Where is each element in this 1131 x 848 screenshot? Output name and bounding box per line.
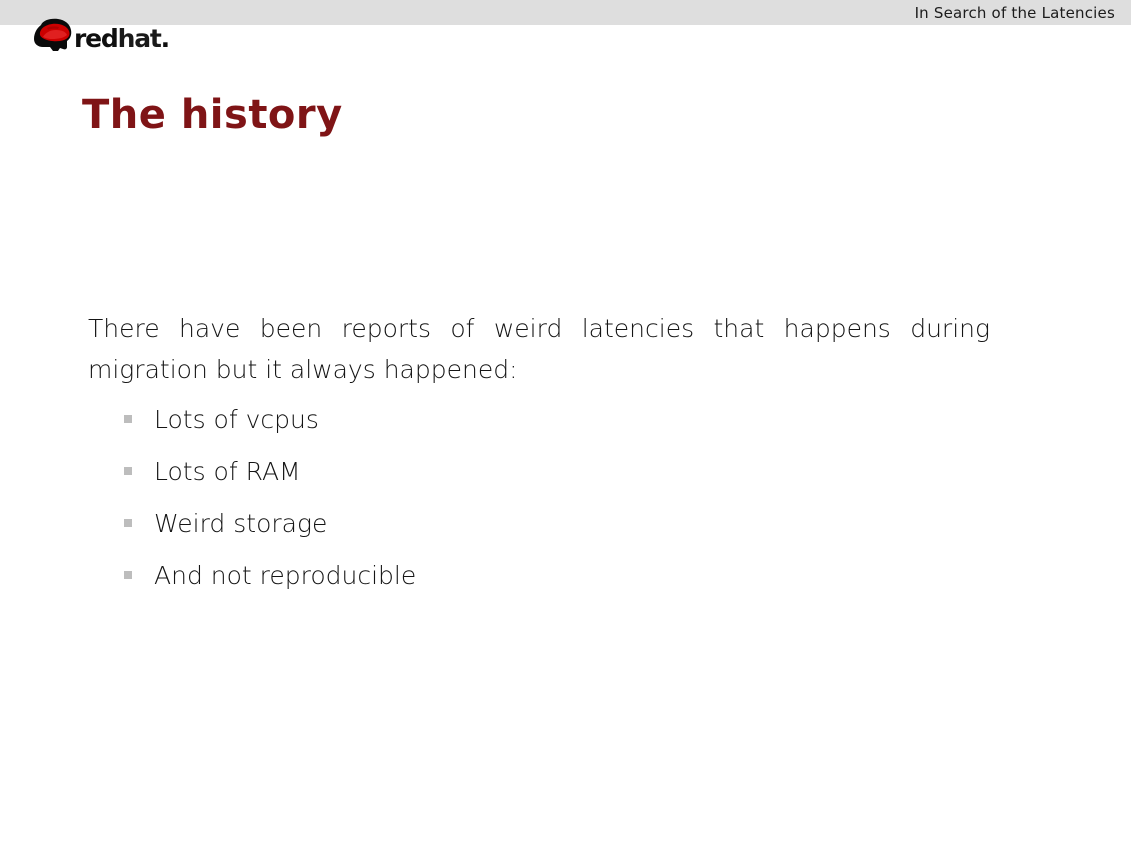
lead-paragraph: There have been reports of weird latenci… xyxy=(88,308,990,390)
bullet-list: Lots of vcpus Lots of RAM Weird storage … xyxy=(88,404,990,612)
list-item-label: Lots of RAM xyxy=(154,456,301,488)
slide-content: There have been reports of weird latenci… xyxy=(88,308,990,612)
square-bullet-icon xyxy=(124,519,132,527)
wordmark-hat: hat xyxy=(118,24,161,53)
redhat-shadowman-icon xyxy=(31,18,77,52)
list-item: And not reproducible xyxy=(124,560,990,612)
list-item: Lots of vcpus xyxy=(124,404,990,456)
wordmark-red: red xyxy=(74,24,118,53)
slide-title: The history xyxy=(82,92,343,138)
square-bullet-icon xyxy=(124,415,132,423)
list-item: Weird storage xyxy=(124,508,990,560)
list-item-label: Lots of vcpus xyxy=(154,404,319,436)
square-bullet-icon xyxy=(124,467,132,475)
square-bullet-icon xyxy=(124,571,132,579)
wordmark-dot: . xyxy=(161,24,169,53)
redhat-wordmark: redhat. xyxy=(74,26,169,51)
list-item-label: And not reproducible xyxy=(154,560,416,592)
presentation-title: In Search of the Latencies xyxy=(915,4,1131,22)
list-item: Lots of RAM xyxy=(124,456,990,508)
redhat-logo: redhat. xyxy=(31,14,181,52)
list-item-label: Weird storage xyxy=(154,508,327,540)
